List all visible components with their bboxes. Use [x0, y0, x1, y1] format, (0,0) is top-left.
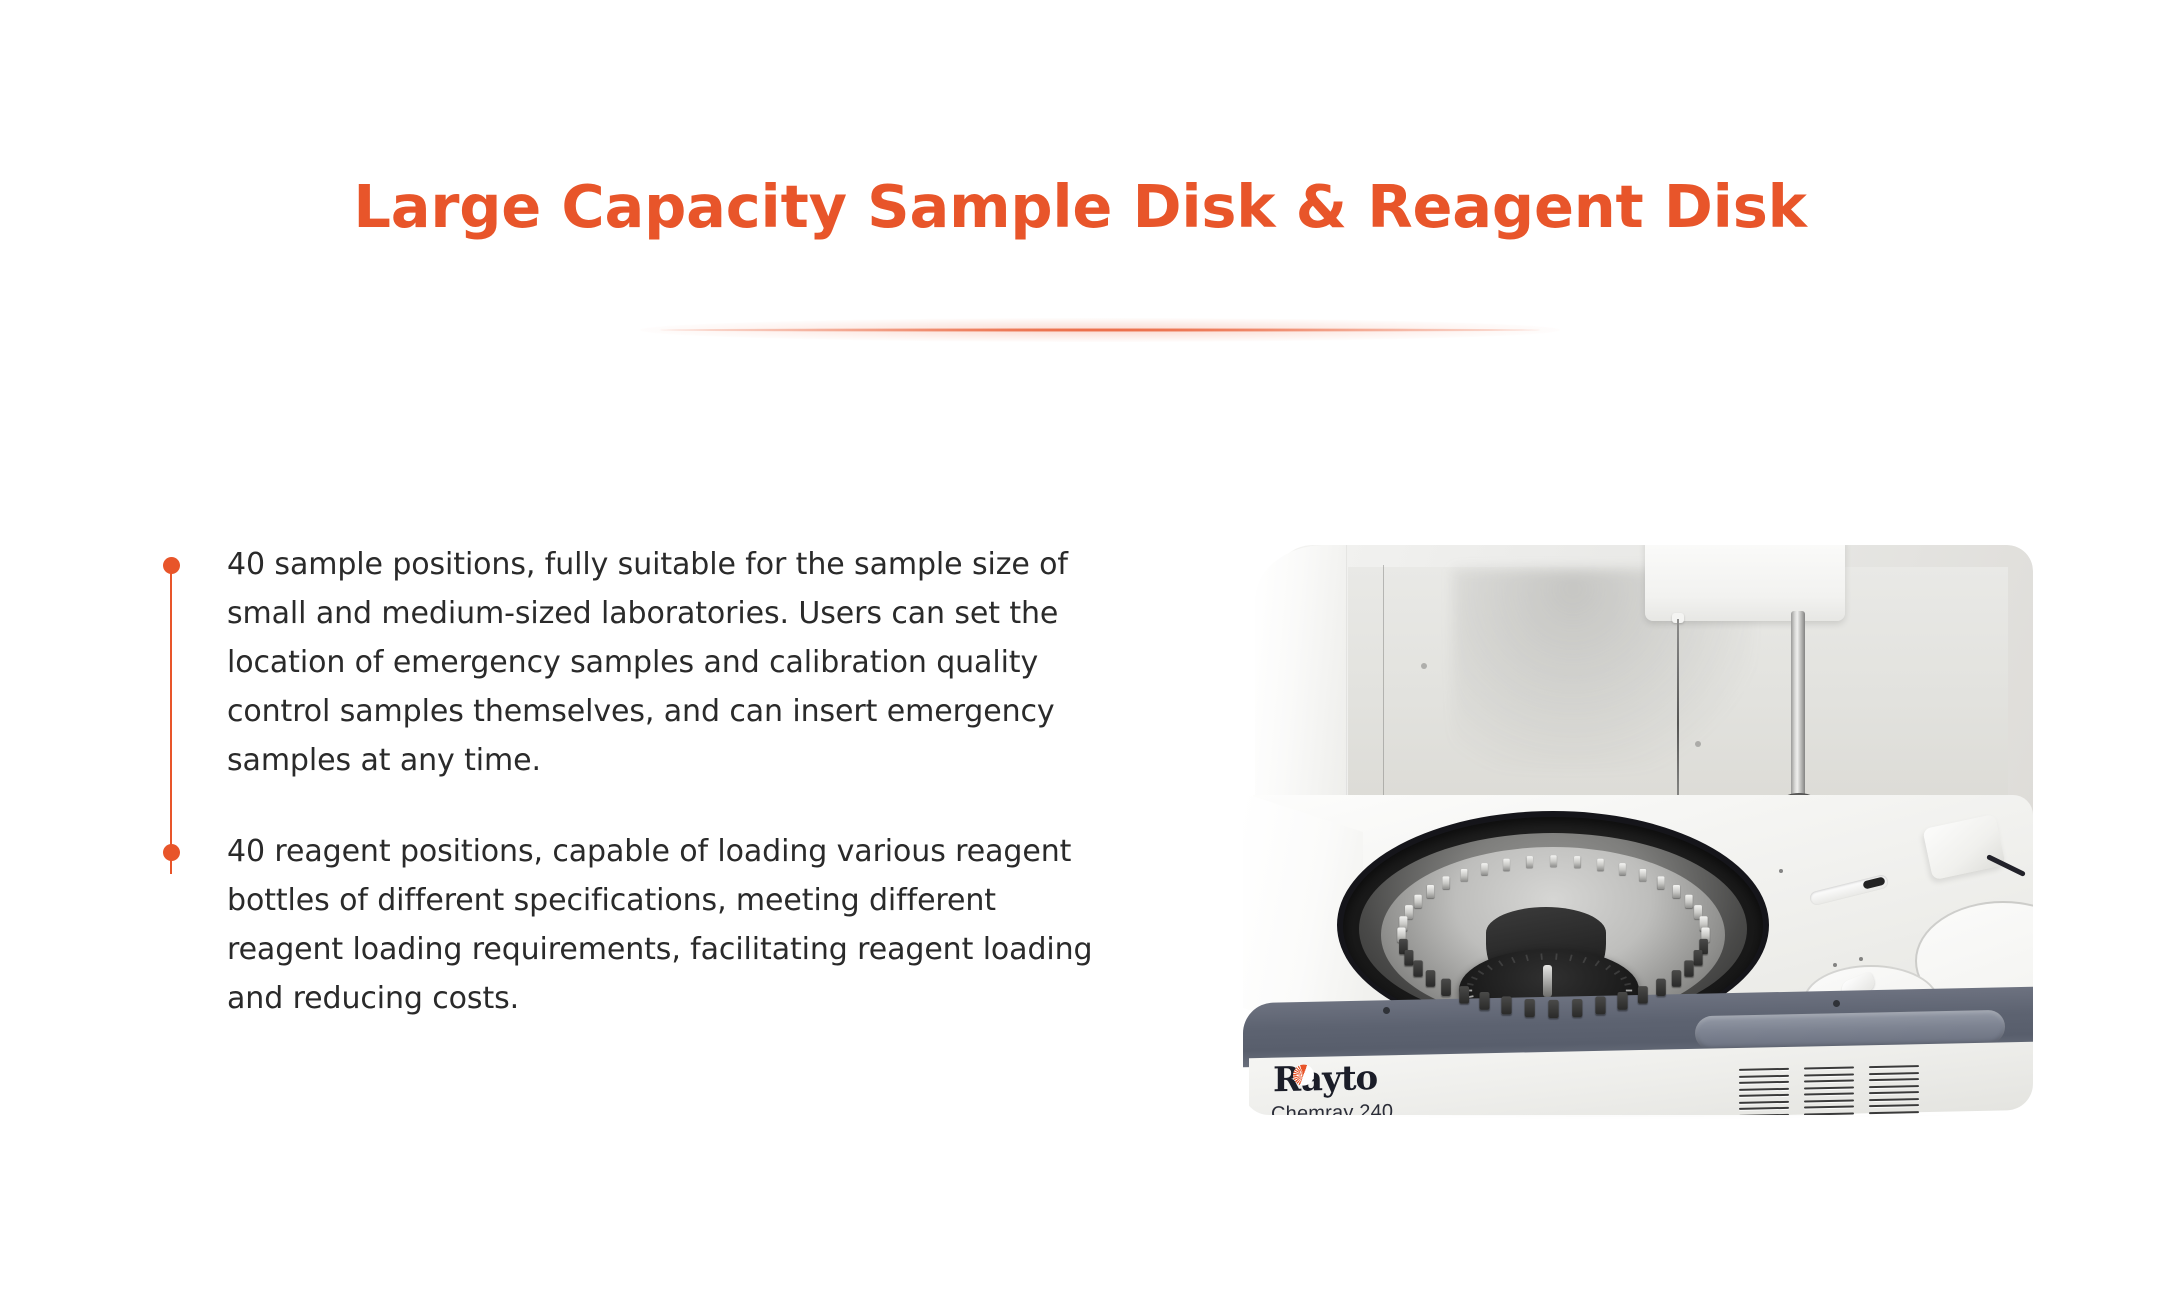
vent-slot: [1869, 1065, 1919, 1068]
vent-slot: [1804, 1099, 1854, 1102]
sample-position: [1442, 876, 1449, 888]
screw-icon: [1421, 663, 1427, 669]
dial-tick: [1595, 960, 1600, 966]
sample-position: [1526, 856, 1532, 868]
vent-slot: [1739, 1094, 1789, 1097]
dial-tick: [1555, 953, 1557, 959]
sample-position: [1441, 979, 1451, 996]
feature-text-sample-positions: 40 sample positions, fully suitable for …: [227, 540, 1107, 785]
dial-tick: [1511, 956, 1515, 962]
dial-tick: [1626, 989, 1632, 991]
sample-position: [1524, 999, 1534, 1017]
sample-position: [1671, 970, 1680, 987]
sample-position: [1637, 986, 1647, 1004]
sample-position: [1479, 992, 1489, 1010]
dial-tick: [1620, 976, 1627, 980]
vent-slot: [1804, 1066, 1854, 1069]
vent-slot: [1739, 1107, 1789, 1110]
title-underline: [660, 328, 1540, 332]
vent-slot: [1739, 1087, 1789, 1090]
sample-position: [1550, 855, 1556, 867]
sample-position: [1481, 863, 1488, 875]
sample-position: [1656, 979, 1666, 996]
feature-text-reagent-positions: 40 reagent positions, capable of loading…: [227, 827, 1107, 1023]
bullet-dot-icon: [163, 844, 180, 861]
vent-slot: [1869, 1098, 1919, 1101]
mixer-shaft: [1791, 611, 1805, 801]
sample-position: [1572, 999, 1582, 1017]
vent-slot: [1869, 1111, 1919, 1114]
probe-head: [1645, 545, 1845, 621]
vent-slot: [1804, 1112, 1854, 1115]
list-item: 40 sample positions, fully suitable for …: [157, 540, 1107, 785]
vent-slot: [1804, 1079, 1854, 1082]
product-model: Chemray 240: [1271, 1101, 1393, 1115]
sample-position: [1597, 859, 1604, 871]
dial-tick: [1569, 954, 1572, 961]
sample-position: [1639, 869, 1646, 881]
sample-position: [1657, 876, 1664, 888]
page-title: Large Capacity Sample Disk & Reagent Dis…: [0, 172, 2160, 241]
sample-position: [1501, 996, 1511, 1014]
ventilation-grille: [1739, 1065, 1919, 1115]
sample-position: [1459, 986, 1469, 1004]
vent-slot: [1804, 1105, 1854, 1108]
vent-column: [1869, 1065, 1919, 1115]
sample-position: [1548, 1000, 1558, 1018]
band-screw-icon: [1383, 1007, 1390, 1014]
vent-column: [1739, 1068, 1789, 1115]
vent-slot: [1869, 1104, 1919, 1107]
dial-tick: [1582, 956, 1586, 962]
brand-name: Rayto: [1271, 1060, 1393, 1099]
sample-position: [1503, 859, 1510, 871]
sample-position: [1425, 970, 1434, 987]
sample-position: [1413, 960, 1422, 976]
vent-slot: [1804, 1073, 1854, 1076]
product-photo: Rayto Chemray 240: [1243, 545, 2033, 1115]
sample-position: [1619, 863, 1626, 875]
list-item: 40 reagent positions, capable of loading…: [157, 827, 1107, 1023]
sample-position: [1685, 895, 1692, 908]
dial-tick: [1605, 964, 1611, 970]
band-screw-icon: [1833, 1000, 1840, 1007]
chemistry-analyzer: Rayto Chemray 240: [1243, 545, 2033, 1115]
sample-position: [1617, 992, 1627, 1010]
sample-position: [1460, 869, 1467, 881]
vent-slot: [1739, 1068, 1789, 1071]
sample-position: [1684, 960, 1693, 976]
dial-tick: [1478, 970, 1484, 975]
vent-slot: [1804, 1086, 1854, 1089]
vent-slot: [1739, 1074, 1789, 1077]
dial-tick: [1487, 964, 1493, 970]
vent-slot: [1869, 1072, 1919, 1075]
vent-slot: [1869, 1085, 1919, 1088]
hood-seam: [1383, 565, 1384, 797]
dial-tick: [1624, 982, 1631, 985]
vent-slot: [1739, 1113, 1789, 1115]
dial-tick: [1467, 982, 1474, 985]
feature-list: 40 sample positions, fully suitable for …: [157, 540, 1107, 1023]
deck-marker-icon: [1859, 957, 1863, 961]
vent-slot: [1869, 1091, 1919, 1094]
brand-logo: Rayto Chemray 240: [1271, 1060, 1393, 1115]
deck-marker-icon: [1833, 963, 1837, 967]
sample-position: [1672, 885, 1679, 898]
dial-tick: [1525, 954, 1528, 961]
dial-tick: [1471, 976, 1478, 980]
sample-position: [1426, 885, 1433, 898]
dial-tick: [1614, 970, 1620, 975]
dial-tick: [1498, 960, 1503, 966]
sample-position: [1414, 895, 1421, 908]
screw-icon: [1695, 741, 1701, 747]
bullet-dot-icon: [163, 557, 180, 574]
vent-slot: [1804, 1092, 1854, 1095]
sample-position: [1574, 856, 1580, 868]
vent-column: [1804, 1066, 1854, 1115]
sample-position: [1693, 950, 1702, 966]
vent-slot: [1739, 1100, 1789, 1103]
vent-slot: [1869, 1078, 1919, 1081]
sample-position: [1595, 996, 1605, 1014]
dial-tick: [1540, 953, 1542, 959]
carousel-key: [1543, 965, 1552, 997]
deck-marker-icon: [1779, 869, 1783, 873]
vent-slot: [1739, 1081, 1789, 1084]
sample-position: [1404, 950, 1413, 966]
